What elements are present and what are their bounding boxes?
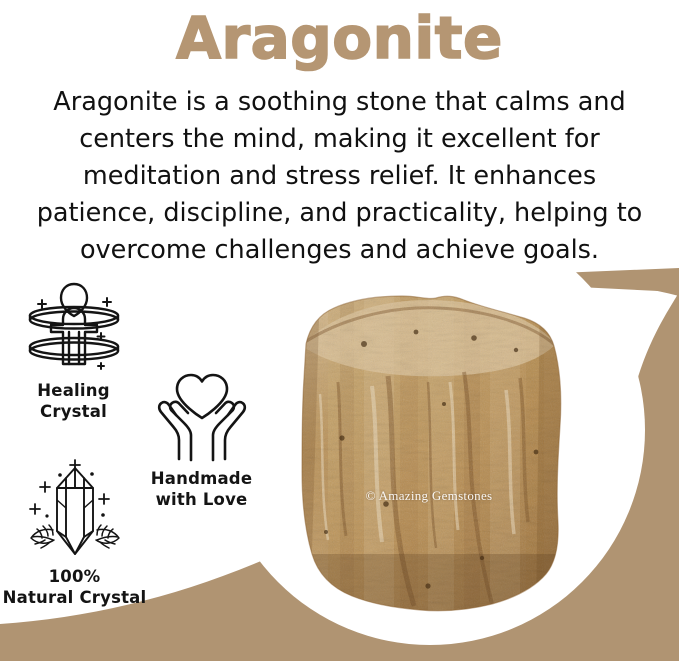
stone-illustration	[268, 286, 590, 618]
crystal-point-laurel-icon	[16, 458, 134, 562]
product-title: Aragonite	[0, 2, 679, 74]
badge-healing-crystal: Healing Crystal	[6, 278, 141, 422]
healing-aura-figure-icon	[22, 278, 126, 376]
product-description: Aragonite is a soothing stone that calms…	[30, 84, 649, 269]
badge-label: 100% Natural Crystal	[2, 566, 147, 608]
badge-handmade-with-love: Handmade with Love	[134, 372, 269, 510]
hands-holding-heart-icon	[150, 372, 254, 464]
aragonite-stone-photo	[268, 286, 590, 618]
product-infographic: Aragonite Aragonite is a soothing stone …	[0, 0, 679, 661]
badge-label: Healing Crystal	[6, 380, 141, 422]
badge-natural-crystal: 100% Natural Crystal	[2, 458, 147, 608]
badge-label: Handmade with Love	[134, 468, 269, 510]
